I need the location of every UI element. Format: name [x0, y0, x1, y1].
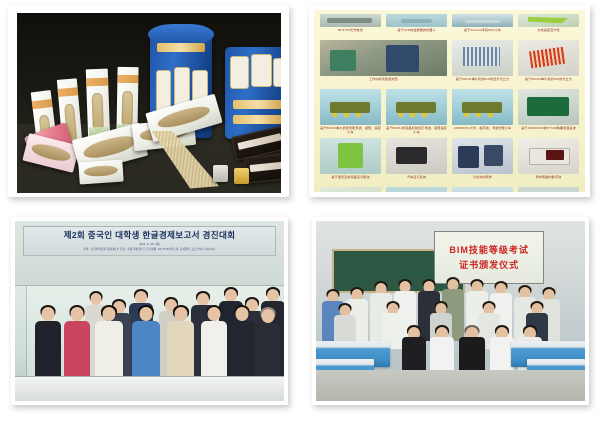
poster-thumb — [518, 14, 579, 27]
poster-item — [452, 187, 513, 192]
poster-item: 基于通讯互的液晶显示模块 — [320, 138, 381, 184]
poster-thumb — [386, 14, 447, 27]
poster-item: 基于89C51的液晶时钟显示寻迹、避障遥控小车 — [386, 89, 447, 135]
poster-item: 同学焦做的数字钟 — [518, 138, 579, 184]
poster-thumb — [452, 138, 513, 174]
poster-thumb — [320, 138, 381, 174]
person — [95, 305, 123, 379]
poster-thumb — [518, 89, 579, 125]
person — [229, 305, 255, 379]
photo-card: BH1750光光电池 基于AVR的金属舞的机器人 基于Android手机WiFi… — [309, 5, 590, 197]
poster-item — [386, 187, 447, 192]
poster-thumb — [452, 40, 513, 76]
bim-ceremony-photo: BIM技能等级考试 证书颁发仪式 — [316, 221, 585, 401]
poster-thumb — [386, 187, 447, 192]
poster-thumb — [320, 14, 381, 27]
banner-subline: 주최 : 한국연직당회 북경대표부 후원 : 주중국대한민국, 한국상회, OK… — [83, 247, 215, 251]
poster-row: BH1750光光电池 基于AVR的金属舞的机器人 基于Android手机WiFi… — [320, 14, 579, 37]
dark-gift-box — [244, 152, 281, 183]
poster-thumb — [320, 89, 381, 125]
collage-cell-korean-contest[interactable]: 제2회 중국인 대학생 한글경제보고서 경진대회 2011. 9. 29. (목… — [0, 211, 301, 422]
photo-card: 제2회 중국인 대학생 한글경제보고서 경진대회 2011. 9. 29. (목… — [11, 217, 288, 405]
product-tray — [78, 159, 123, 184]
poster-caption: 工作中的实验室成员 — [320, 77, 447, 86]
poster-caption: 基于AVR的金属舞的机器人 — [386, 28, 447, 37]
contest-banner: 제2회 중국인 대학생 한글경제보고서 경진대회 2011. 9. 29. (목… — [23, 226, 276, 256]
poster-caption: 大地遥控直升机 — [518, 28, 579, 37]
screen-line-2: 证书颁发仪式 — [459, 258, 519, 271]
screen-line-1: BIM技能等级考试 — [449, 243, 529, 256]
classroom-floor — [316, 370, 585, 401]
person — [167, 305, 194, 379]
poster-row: 基于89C51单片机的智能寻迹、避障、遥控小车 基于89C51的液晶时钟显示寻迹… — [320, 89, 579, 135]
blue-gift-tin — [225, 47, 281, 139]
person — [35, 305, 61, 379]
person — [64, 305, 90, 379]
poster-caption: BH1750光光电池 — [320, 28, 381, 37]
poster-thumb — [386, 138, 447, 174]
poster-thumb — [452, 187, 513, 192]
photo-collage-grid: BH1750光光电池 基于AVR的金属舞的机器人 基于Android手机WiFi… — [0, 0, 602, 422]
poster-caption: 基于89C51单片机的智能寻迹、避障、遥控小车 — [320, 126, 381, 135]
collage-cell-product-packaging[interactable] — [0, 0, 301, 211]
poster-item: 基于AVR的金属舞的机器人 — [386, 14, 447, 37]
small-jar — [213, 165, 228, 182]
poster-caption: 基于89C51单片机的8×8的显示光立方 — [452, 77, 513, 86]
product-packaging-photo — [17, 13, 281, 193]
poster-caption: 讨论中的同学 — [452, 175, 513, 184]
poster-item: 汽车显示系统 — [386, 138, 447, 184]
poster-thumb — [452, 14, 513, 27]
collage-cell-project-poster[interactable]: BH1750光光电池 基于AVR的金属舞的机器人 基于Android手机WiFi… — [301, 0, 602, 211]
poster-item: 基于ATM89C52的PT100精确测温系统 — [518, 89, 579, 135]
poster-item: 大地遥控直升机 — [518, 14, 579, 37]
poster-caption: 基于89C51的液晶时钟显示寻迹、避障遥控小车 — [386, 126, 447, 135]
seated-person — [402, 325, 426, 373]
poster-caption: 汽车显示系统 — [386, 175, 447, 184]
poster-thumb — [518, 40, 579, 76]
poster-item: 讨论中的同学 — [452, 138, 513, 184]
poster-item — [518, 187, 579, 192]
banner-title: 제2회 중국인 대학생 한글경제보고서 경진대회 — [64, 231, 236, 240]
poster-caption: 基于通讯互的液晶显示模块 — [320, 175, 381, 184]
poster-caption: 同学焦做的数字钟 — [518, 175, 579, 184]
person — [255, 307, 280, 379]
seated-person — [430, 325, 454, 373]
small-jar — [234, 168, 249, 184]
conference-table — [15, 376, 284, 400]
poster-item: 基于89C51单片机的8×8的光立方 — [518, 40, 579, 86]
poster-thumb — [518, 187, 579, 192]
poster-thumb — [320, 40, 447, 76]
poster-item — [320, 187, 381, 192]
poster-caption: 基于ATM89C52的PT100精确测温系统 — [518, 126, 579, 135]
poster-thumb — [452, 89, 513, 125]
poster-thumb — [518, 138, 579, 174]
poster-item: 基于Android手机WiFi小车 — [452, 14, 513, 37]
poster-item: 工作中的实验室成员 — [320, 40, 447, 86]
poster-row: 工作中的实验室成员 基于89C51单片机的8×8的显示光立方 基于89C51单片… — [320, 40, 579, 86]
korean-contest-photo: 제2회 중국인 대학생 한글경제보고서 경진대회 2011. 9. 29. (목… — [15, 221, 284, 401]
seated-person — [459, 325, 485, 375]
poster-item: BH1750光光电池 — [320, 14, 381, 37]
poster-row: 基于通讯互的液晶显示模块 汽车显示系统 讨论中的同学 同学焦做的数字钟 — [320, 138, 579, 184]
poster-row — [320, 187, 579, 192]
poster-thumb — [320, 187, 381, 192]
poster-item: 基于89C51单片机的8×8的显示光立方 — [452, 40, 513, 86]
product-box — [86, 68, 110, 141]
poster-caption: 基于89C51单片机的8×8的光立方 — [518, 77, 579, 86]
poster-item: ATM89C51计步、超声波、寻迹智能小车 — [452, 89, 513, 135]
photo-card: BIM技能等级考试 证书颁发仪式 — [312, 217, 589, 405]
poster-thumb — [386, 89, 447, 125]
project-poster: BH1750光光电池 基于AVR的金属舞的机器人 基于Android手机WiFi… — [314, 10, 585, 192]
poster-caption: 基于Android手机WiFi小车 — [452, 28, 513, 37]
collage-cell-bim-ceremony[interactable]: BIM技能等级考试 证书颁发仪式 — [301, 211, 602, 422]
poster-item: 基于89C51单片机的智能寻迹、避障、遥控小车 — [320, 89, 381, 135]
poster-caption: ATM89C51计步、超声波、寻迹智能小车 — [452, 126, 513, 135]
photo-card — [8, 5, 289, 197]
banner-date: 2011. 9. 29. (목) — [139, 242, 160, 246]
person — [201, 305, 227, 379]
person — [132, 305, 160, 379]
